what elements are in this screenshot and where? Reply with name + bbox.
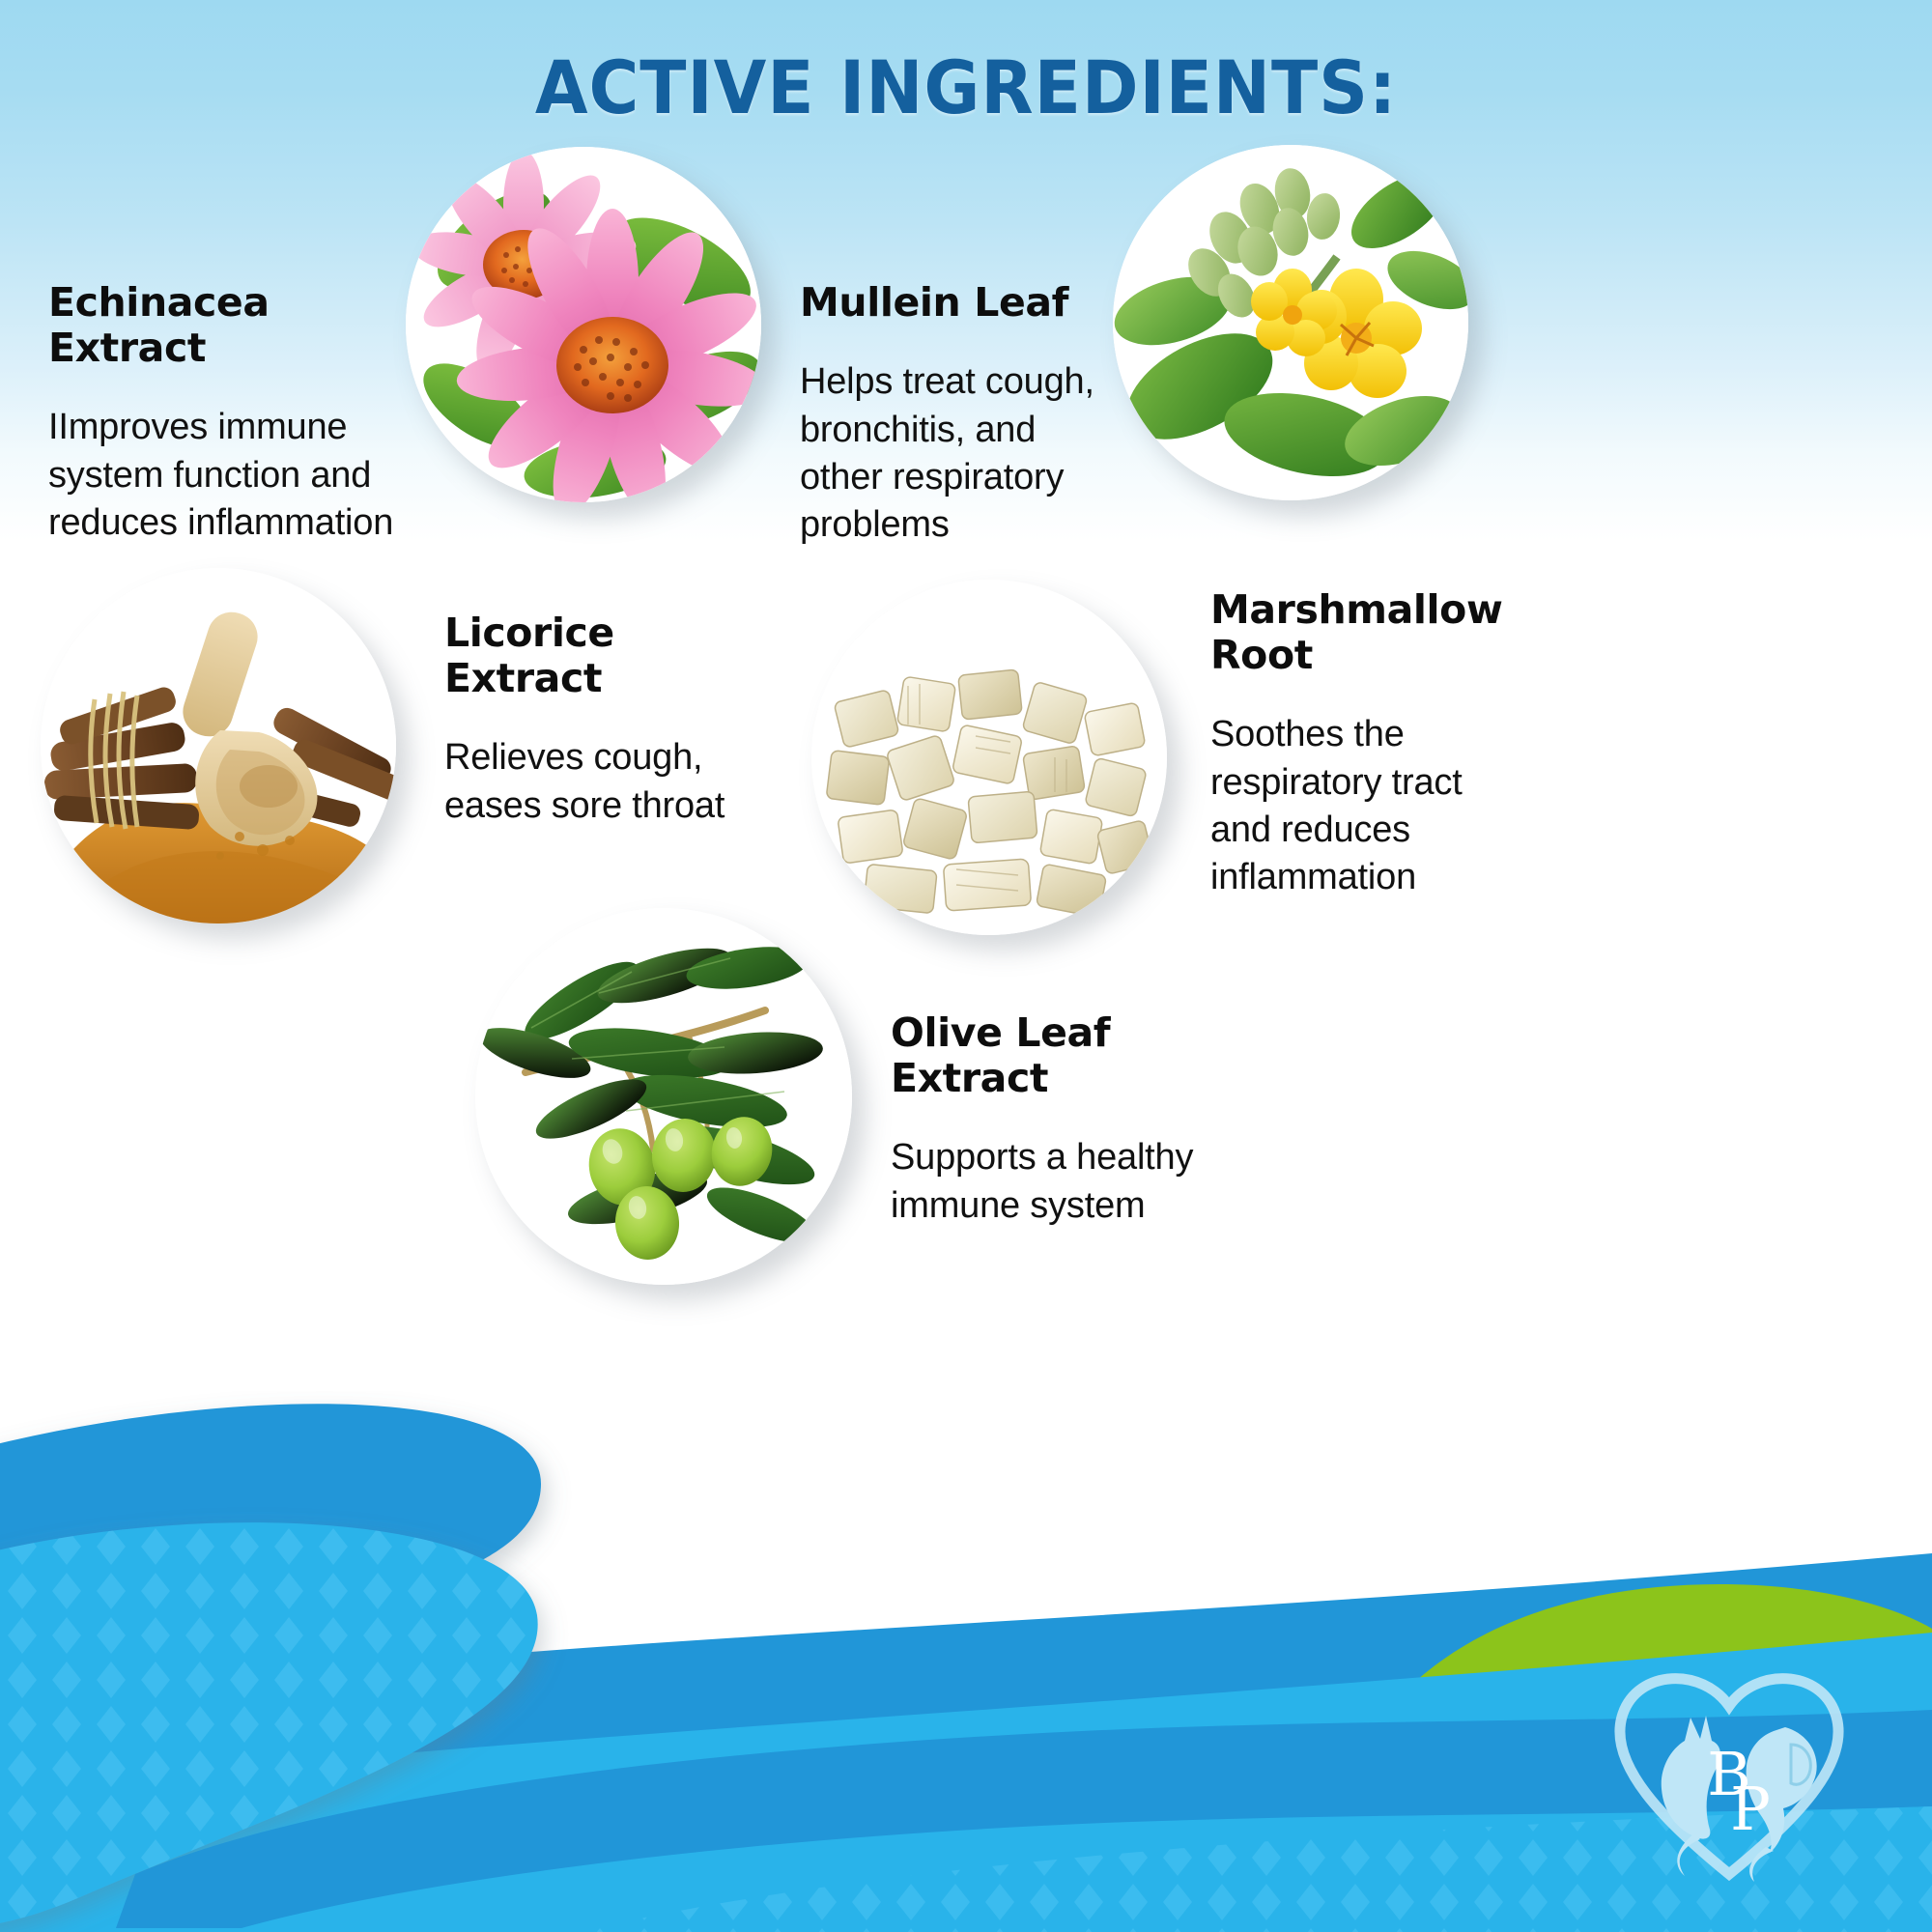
ingredient-description-echinacea: IImproves immune system function and red… — [48, 404, 396, 547]
mullein-leaf-photo — [1113, 145, 1468, 500]
ingredient-title-licorice: Licorice Extract — [444, 611, 763, 701]
page-title: ACTIVE INGREDIENTS: — [68, 44, 1864, 130]
logo-illustration: B P — [1584, 1667, 1874, 1889]
ingredient-title-mullein: Mullein Leaf — [800, 280, 1119, 326]
olive-leaf-photo — [475, 908, 852, 1285]
ingredient-text-olive: Olive Leaf Extract Supports a healthy im… — [891, 1010, 1219, 1230]
mullein-illustration — [1113, 145, 1468, 500]
ingredient-title-echinacea: Echinacea Extract — [48, 280, 396, 371]
ingredient-text-licorice: Licorice Extract Relieves cough, eases s… — [444, 611, 763, 830]
ingredient-description-mullein: Helps treat cough, bronchitis, and other… — [800, 358, 1119, 550]
ingredient-title-marshmallow: Marshmallow Root — [1210, 587, 1500, 678]
ingredient-title-olive: Olive Leaf Extract — [891, 1010, 1219, 1101]
ingredient-description-olive: Supports a healthy immune system — [891, 1134, 1219, 1230]
ingredient-text-echinacea: Echinacea Extract IImproves immune syste… — [48, 280, 396, 547]
brand-logo-heart-cat-dog: B P — [1584, 1667, 1874, 1889]
marshmallow-root-illustration — [811, 580, 1167, 935]
echinacea-illustration — [406, 147, 761, 502]
infographic-canvas: ACTIVE INGREDIENTS: Echinacea Extract II… — [0, 0, 1932, 1932]
echinacea-flower-photo — [406, 147, 761, 502]
ingredient-description-marshmallow: Soothes the respiratory tract and reduce… — [1210, 711, 1500, 902]
ingredient-description-licorice: Relieves cough, eases sore throat — [444, 734, 763, 830]
licorice-root-photo — [41, 568, 396, 923]
licorice-illustration — [41, 568, 396, 923]
olive-leaf-illustration — [475, 908, 852, 1285]
marshmallow-root-photo — [811, 580, 1167, 935]
ingredient-text-mullein: Mullein Leaf Helps treat cough, bronchit… — [800, 280, 1119, 550]
svg-text:P: P — [1730, 1774, 1771, 1844]
ingredient-text-marshmallow: Marshmallow Root Soothes the respiratory… — [1210, 587, 1500, 902]
